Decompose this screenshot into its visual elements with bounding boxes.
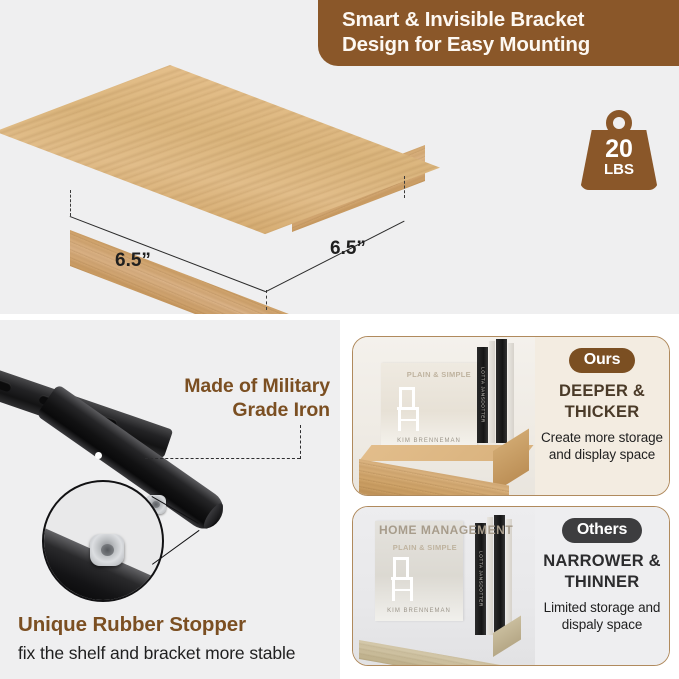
ours-badge: Ours (569, 348, 636, 373)
military-grade-line1: Made of Military (184, 375, 330, 397)
rubber-stopper-subtext: fix the shelf and bracket more stable (18, 643, 295, 664)
book-cover-main: HOME MANAGEMENT PLAIN & SIMPLE KIM BRENN… (375, 521, 463, 621)
others-headline: NARROWER & THINNER (541, 551, 663, 593)
weight-unit: LBS (580, 162, 658, 178)
book-spine-text: LOTTA JANSDOTTER (478, 551, 483, 607)
header-title-line1: Smart & Invisible Bracket (342, 8, 584, 31)
bracket-slot (0, 376, 12, 393)
book-cover-main: PLAIN & SIMPLE KIM BRENNEMAN (381, 363, 477, 451)
rubber-stopper-heading: Unique Rubber Stopper (18, 613, 246, 637)
book-cover-author: KIM BRENNEMAN (381, 438, 477, 444)
others-headline-line1: NARROWER & (543, 552, 661, 570)
shelf-top-surface (0, 65, 440, 234)
others-photo: LOTTA JANSDOTTER HOME MANAGEMENT PLAIN &… (353, 507, 535, 665)
book-cover-title: PLAIN & SIMPLE (393, 543, 457, 552)
others-headline-line2: THINNER (565, 573, 640, 591)
dimension-label-depth: 6.5” (330, 238, 366, 260)
others-text-panel: Others NARROWER & THINNER Limited storag… (535, 507, 669, 665)
book-cover-author: KIM BRENNEMAN (375, 608, 463, 614)
magnifier-detail-circle (42, 480, 164, 602)
book-thin (508, 343, 514, 443)
military-grade-heading: Made of Military Grade Iron (120, 374, 330, 422)
magnified-rubber-stopper (90, 534, 124, 566)
ours-photo: LOTTA JANSDOTTER PLAIN & SIMPLE KIM BREN… (353, 337, 535, 495)
ours-headline-line2: THICKER (565, 403, 640, 421)
dimension-tick-center (266, 290, 267, 310)
military-grade-line2: Grade Iron (232, 399, 330, 421)
callout-dashed-horizontal (145, 458, 300, 459)
book-dark: LOTTA JANSDOTTER (477, 347, 488, 443)
ours-headline-line1: DEEPER & (559, 382, 645, 400)
chair-illustration (389, 555, 423, 603)
dimension-tick-left (70, 190, 71, 216)
ours-headline: DEEPER & THICKER (541, 381, 663, 423)
shelf-illustration (40, 55, 440, 285)
dimension-label-width: 6.5” (115, 250, 151, 272)
book-spine-text: LOTTA JANSDOTTER (480, 367, 485, 423)
shelf-front-edge (70, 230, 292, 314)
comparison-card-ours: LOTTA JANSDOTTER PLAIN & SIMPLE KIM BREN… (352, 336, 670, 496)
others-badge: Others (562, 518, 642, 543)
book-thin (489, 341, 495, 443)
weight-capacity-badge: 20 LBS (580, 110, 658, 190)
header-title-line2: Design for Easy Mounting (342, 32, 669, 57)
bracket-rod-cap (201, 501, 226, 531)
weight-icon-body: 20 LBS (580, 130, 658, 190)
ours-description: Create more storage and display space (541, 429, 663, 463)
dimension-tick-right (404, 176, 405, 198)
top-panel: 6.5” 6.5” Smart & Invisible Bracket Desi… (0, 0, 679, 314)
book-dark (496, 339, 507, 443)
callout-anchor-dot (95, 452, 102, 459)
product-infographic: 6.5” 6.5” Smart & Invisible Bracket Desi… (0, 0, 679, 679)
ours-text-panel: Ours DEEPER & THICKER Create more storag… (535, 337, 669, 495)
book-cover-title-top: HOME MANAGEMENT (379, 523, 513, 537)
others-shelf-front (359, 640, 509, 665)
book-dark: LOTTA JANSDOTTER (475, 523, 486, 635)
book-cover-title: PLAIN & SIMPLE (407, 370, 471, 379)
weight-value: 20 (580, 136, 658, 162)
ours-shelf-front (359, 459, 509, 495)
comparison-card-others: LOTTA JANSDOTTER HOME MANAGEMENT PLAIN &… (352, 506, 670, 666)
others-description: Limited storage and dispaly space (541, 599, 663, 633)
chair-illustration (395, 385, 429, 433)
callout-dashed-vertical (300, 425, 301, 459)
header-banner: Smart & Invisible Bracket Design for Eas… (318, 0, 679, 66)
